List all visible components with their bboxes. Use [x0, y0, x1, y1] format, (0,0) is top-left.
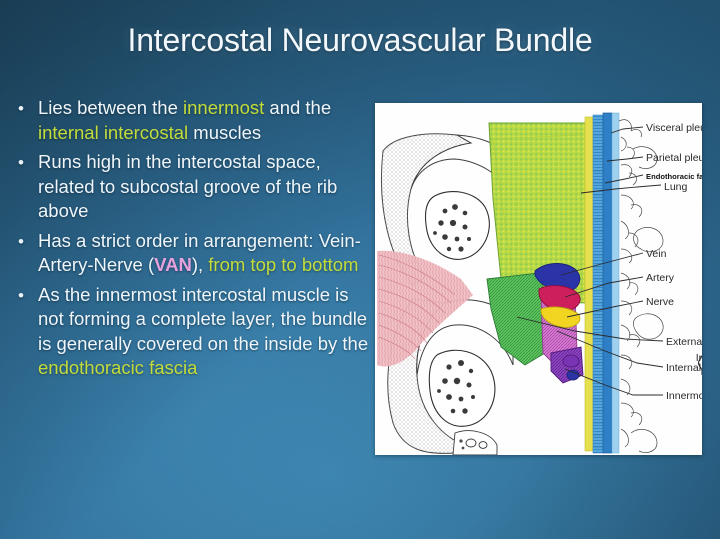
- bullet-text: Runs high in the intercostal space, rela…: [38, 150, 376, 224]
- label-nerve: Nerve: [646, 296, 674, 308]
- page-title: Intercostal Neurovascular Bundle: [0, 22, 720, 59]
- label-endothoracic-fascia: Endothoracic fascia: [646, 172, 702, 181]
- bullet-list: • Lies between the innermost and the int…: [4, 96, 376, 386]
- bullet-marker: •: [4, 283, 38, 308]
- bullet-segment: muscles: [188, 122, 261, 143]
- label-lung: Lung: [664, 181, 688, 193]
- label-visceral-pleura: Visceral pleura: [646, 122, 702, 134]
- bullet-text: Has a strict order in arrangement: Vein-…: [38, 229, 376, 278]
- bullet-marker: •: [4, 229, 38, 254]
- bullet-marker: •: [4, 96, 38, 121]
- list-item: • Has a strict order in arrangement: Vei…: [4, 229, 376, 278]
- bullet-segment: As the innermost intercostal muscle is n…: [38, 284, 368, 354]
- bullet-text: As the innermost intercostal muscle is n…: [38, 283, 376, 381]
- bullet-segment-highlight: endothoracic fascia: [38, 357, 197, 378]
- list-item: • As the innermost intercostal muscle is…: [4, 283, 376, 381]
- anatomy-figure-panel: Visceral pleura Parietal pleura Endothor…: [375, 103, 702, 455]
- pleural-layers: [585, 113, 619, 453]
- bullet-segment: and the: [264, 97, 331, 118]
- list-item: • Lies between the innermost and the int…: [4, 96, 376, 145]
- bullet-segment-highlight: innermost: [183, 97, 264, 118]
- label-external: External: [666, 336, 702, 348]
- label-vein: Vein: [646, 248, 667, 260]
- bullet-text: Lies between the innermost and the inter…: [38, 96, 376, 145]
- anatomy-diagram: Visceral pleura Parietal pleura Endothor…: [375, 103, 702, 455]
- bullet-segment: Runs high in the intercostal space, rela…: [38, 151, 337, 221]
- slide-canvas: Intercostal Neurovascular Bundle • Lies …: [0, 0, 720, 539]
- label-artery: Artery: [646, 272, 675, 284]
- label-innermost: Innermost: [666, 390, 702, 402]
- list-item: • Runs high in the intercostal space, re…: [4, 150, 376, 224]
- label-parietal-pleura: Parietal pleura: [646, 152, 702, 164]
- group-label-line1: Intercostal: [696, 352, 702, 364]
- bullet-segment-highlight-van: VAN: [154, 254, 192, 275]
- bullet-segment: Lies between the: [38, 97, 183, 118]
- bullet-segment-highlight: from top to bottom: [208, 254, 358, 275]
- bullet-segment: ),: [192, 254, 208, 275]
- bullet-segment-highlight: internal intercostal: [38, 122, 188, 143]
- group-label-line2: muscles: [701, 366, 702, 378]
- bullet-marker: •: [4, 150, 38, 175]
